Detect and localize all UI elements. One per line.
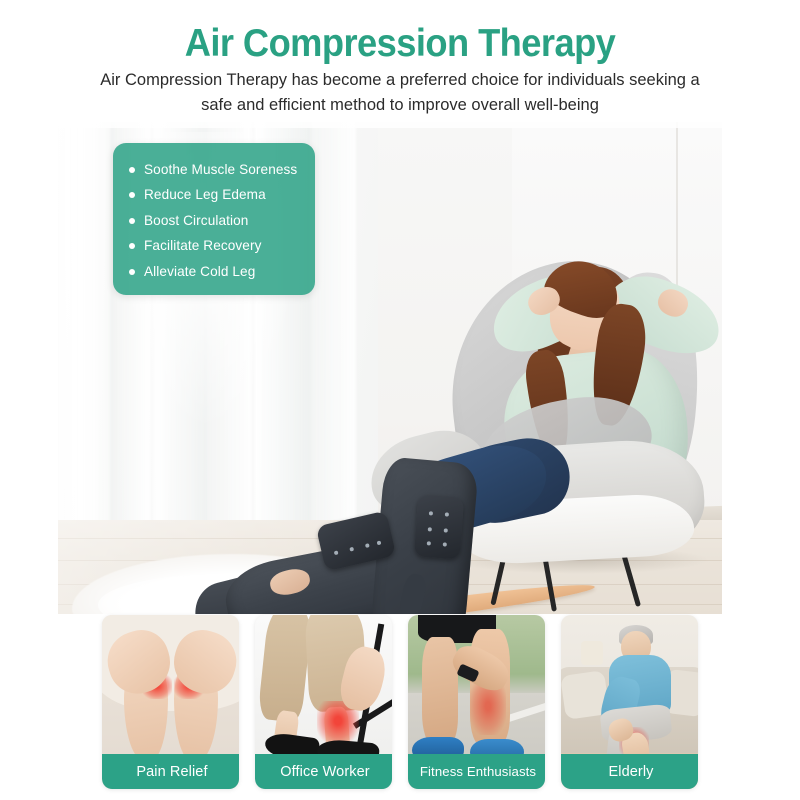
benefit-label: Facilitate Recovery: [144, 239, 262, 253]
use-case-card-elderly[interactable]: Elderly: [561, 615, 698, 789]
compression-control-panel: [414, 494, 464, 559]
benefits-panel: Soothe Muscle Soreness Reduce Leg Edema …: [113, 143, 315, 295]
benefit-label: Reduce Leg Edema: [144, 188, 266, 202]
page-subtitle: Air Compression Therapy has become a pre…: [88, 68, 712, 118]
use-case-card-row: Pain Relief Office Worker: [102, 615, 698, 789]
curtain-panel: [58, 122, 114, 556]
bullet-dot-icon: [129, 269, 135, 275]
card-label-bar: Office Worker: [255, 754, 392, 789]
list-item: Alleviate Cold Leg: [113, 259, 315, 285]
benefit-label: Boost Circulation: [144, 214, 248, 228]
bullet-dot-icon: [129, 167, 135, 173]
list-item: Reduce Leg Edema: [113, 183, 315, 209]
card-label-bar: Elderly: [561, 754, 698, 789]
use-case-card-office-worker[interactable]: Office Worker: [255, 615, 392, 789]
bullet-dot-icon: [129, 218, 135, 224]
card-label-text: Fitness Enthusiasts: [420, 764, 536, 779]
benefit-label: Soothe Muscle Soreness: [144, 163, 297, 177]
page-title: Air Compression Therapy: [28, 22, 772, 66]
benefit-label: Alleviate Cold Leg: [144, 265, 255, 279]
curtain-panel: [310, 122, 356, 556]
bullet-dot-icon: [129, 243, 135, 249]
card-label-text: Pain Relief: [136, 764, 207, 780]
product-marketing-page: Air Compression Therapy Air Compression …: [0, 0, 800, 800]
list-item: Boost Circulation: [113, 208, 315, 234]
card-label-text: Elderly: [608, 764, 653, 780]
header-banner: Air Compression Therapy Air Compression …: [0, 0, 800, 128]
card-label-bar: Pain Relief: [102, 754, 239, 789]
list-item: Facilitate Recovery: [113, 234, 315, 260]
use-case-card-pain-relief[interactable]: Pain Relief: [102, 615, 239, 789]
card-label-text: Office Worker: [280, 764, 369, 780]
benefits-list: Soothe Muscle Soreness Reduce Leg Edema …: [113, 143, 315, 285]
list-item: Soothe Muscle Soreness: [113, 157, 315, 183]
bullet-dot-icon: [129, 192, 135, 198]
use-case-card-fitness-enthusiasts[interactable]: Fitness Enthusiasts: [408, 615, 545, 789]
card-label-bar: Fitness Enthusiasts: [408, 754, 545, 789]
